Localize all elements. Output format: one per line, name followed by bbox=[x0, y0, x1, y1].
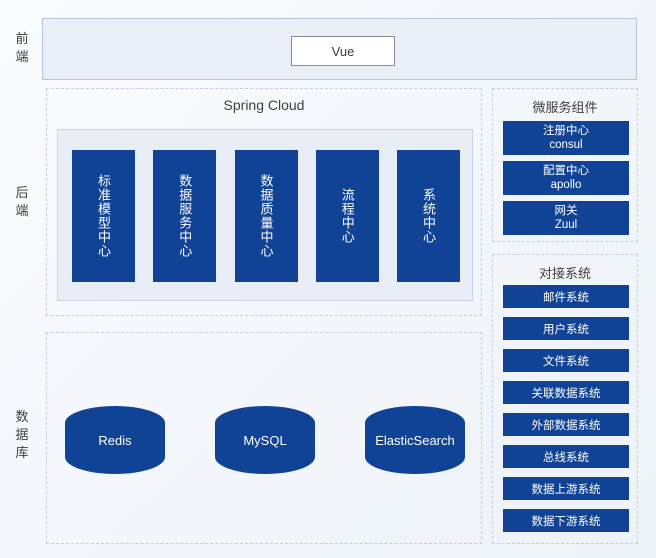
spring-cloud-title: Spring Cloud bbox=[47, 97, 481, 113]
integration-systems-list: 邮件系统 用户系统 文件系统 关联数据系统 外部数据系统 总线系统 数据上游系统… bbox=[503, 285, 629, 541]
database-label: MySQL bbox=[243, 433, 286, 448]
service-box-system-center[interactable]: 系统中心 bbox=[397, 150, 460, 282]
microservice-item-title: 注册中心 bbox=[543, 124, 589, 138]
integration-item-mail-system[interactable]: 邮件系统 bbox=[503, 285, 629, 308]
service-box-data-service-center[interactable]: 数据服务中心 bbox=[153, 150, 216, 282]
database-label: Redis bbox=[98, 433, 131, 448]
database-cylinder-mysql[interactable]: MySQL bbox=[215, 406, 315, 474]
service-box-label: 流程中心 bbox=[338, 188, 357, 244]
microservice-item-gateway[interactable]: 网关 Zuul bbox=[503, 201, 629, 235]
microservice-item-title: 网关 bbox=[555, 204, 578, 218]
database-cylinder-redis[interactable]: Redis bbox=[65, 406, 165, 474]
database-label: ElasticSearch bbox=[375, 433, 454, 448]
tier-label-database: 数 据 库 bbox=[8, 408, 36, 462]
database-cylinder-elasticsearch[interactable]: ElasticSearch bbox=[365, 406, 465, 474]
tier-label-backend: 后 端 bbox=[8, 184, 36, 220]
service-box-standard-model-center[interactable]: 标准模型中心 bbox=[72, 150, 135, 282]
service-box-label: 标准模型中心 bbox=[94, 174, 113, 258]
database-region: Redis MySQL ElasticSearch bbox=[46, 332, 482, 544]
tier-label-frontend: 前 端 bbox=[8, 30, 36, 66]
service-box-label: 数据质量中心 bbox=[257, 174, 276, 258]
microservice-components-panel: 微服务组件 注册中心 consul 配置中心 apollo 网关 Zuul bbox=[492, 88, 638, 242]
service-box-row: 标准模型中心 数据服务中心 数据质量中心 流程中心 系统中心 bbox=[72, 150, 460, 282]
service-box-label: 系统中心 bbox=[419, 188, 438, 244]
spring-cloud-region: Spring Cloud 标准模型中心 数据服务中心 数据质量中心 流程中心 系… bbox=[46, 88, 482, 316]
spring-cloud-inner-panel: 标准模型中心 数据服务中心 数据质量中心 流程中心 系统中心 bbox=[57, 129, 473, 301]
integration-systems-title: 对接系统 bbox=[493, 263, 637, 282]
microservice-components-title: 微服务组件 bbox=[493, 97, 637, 116]
microservice-item-title: 配置中心 bbox=[543, 164, 589, 178]
service-box-process-center[interactable]: 流程中心 bbox=[316, 150, 379, 282]
service-box-label: 数据服务中心 bbox=[175, 174, 194, 258]
frontend-band: Vue bbox=[42, 18, 637, 80]
service-box-data-quality-center[interactable]: 数据质量中心 bbox=[235, 150, 298, 282]
microservice-item-subtitle: consul bbox=[549, 138, 582, 152]
microservice-components-list: 注册中心 consul 配置中心 apollo 网关 Zuul bbox=[503, 121, 629, 241]
integration-item-upstream-data-system[interactable]: 数据上游系统 bbox=[503, 477, 629, 500]
integration-item-file-system[interactable]: 文件系统 bbox=[503, 349, 629, 372]
integration-item-linked-data-system[interactable]: 关联数据系统 bbox=[503, 381, 629, 404]
microservice-item-subtitle: Zuul bbox=[555, 218, 577, 232]
integration-item-user-system[interactable]: 用户系统 bbox=[503, 317, 629, 340]
vue-node[interactable]: Vue bbox=[291, 36, 395, 66]
microservice-item-subtitle: apollo bbox=[551, 178, 582, 192]
microservice-item-config[interactable]: 配置中心 apollo bbox=[503, 161, 629, 195]
database-cylinder-row: Redis MySQL ElasticSearch bbox=[65, 405, 465, 475]
integration-item-downstream-data-system[interactable]: 数据下游系统 bbox=[503, 509, 629, 532]
microservice-item-registry[interactable]: 注册中心 consul bbox=[503, 121, 629, 155]
architecture-diagram: 前 端 后 端 数 据 库 Vue Spring Cloud 标准模型中心 数据… bbox=[0, 0, 656, 558]
integration-item-bus-system[interactable]: 总线系统 bbox=[503, 445, 629, 468]
integration-item-external-data-system[interactable]: 外部数据系统 bbox=[503, 413, 629, 436]
integration-systems-panel: 对接系统 邮件系统 用户系统 文件系统 关联数据系统 外部数据系统 总线系统 数… bbox=[492, 254, 638, 544]
